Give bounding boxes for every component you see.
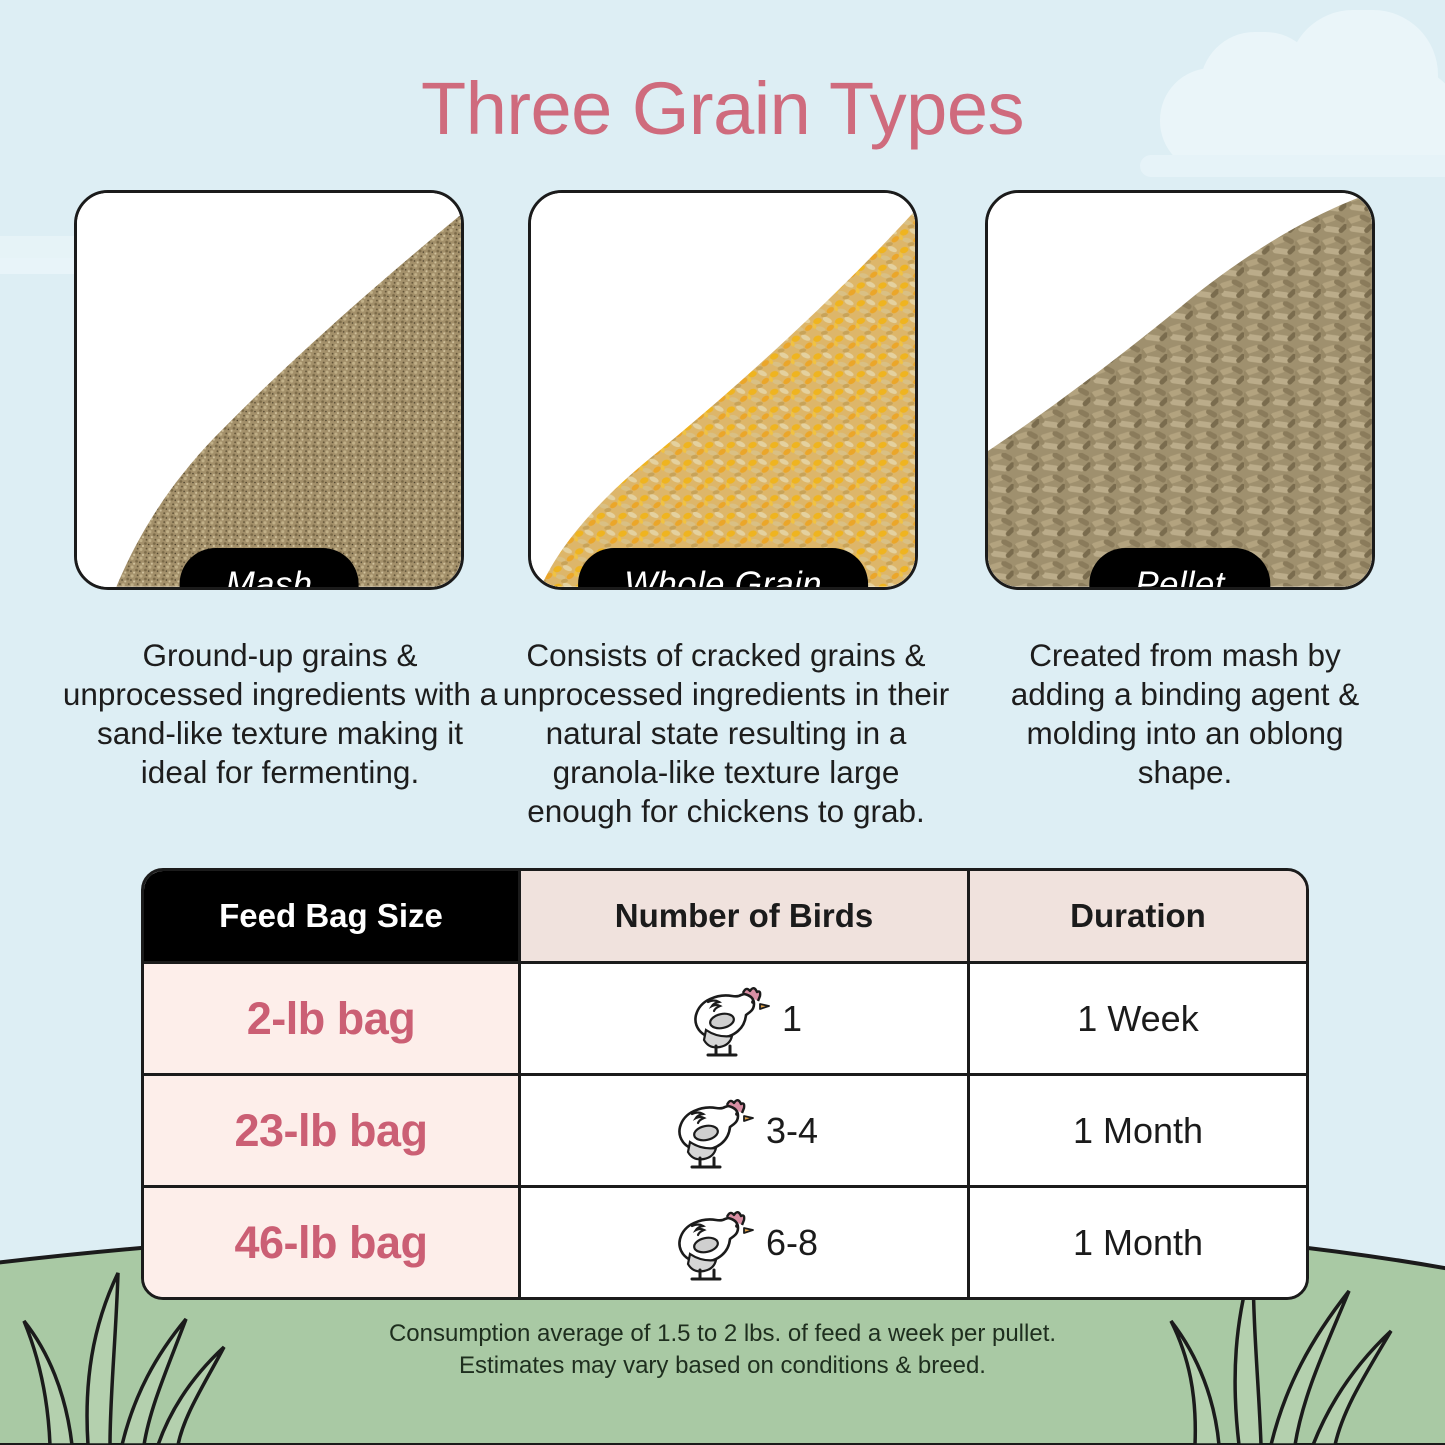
whole-grain-photo [531,193,915,587]
feed-bag-table: Feed Bag Size Number of Birds Duration 2… [141,868,1309,1300]
cell-duration: 1 Month [967,1076,1306,1185]
bird-count-label: 1 [782,998,802,1040]
chicken-icon [670,1204,756,1282]
page-title: Three Grain Types [0,66,1445,151]
description-mash: Ground-up grains & unprocessed ingredien… [60,636,500,792]
chicken-icon [686,980,772,1058]
description-pellet: Created from mash by adding a binding ag… [990,636,1380,792]
chicken-icon [670,1092,756,1170]
table-header-number-of-birds: Number of Birds [518,871,967,961]
cell-number-of-birds: 3-4 [518,1076,967,1185]
table-row: 2-lb bag 1 1 Week [144,961,1306,1073]
card-label-mash: Mash [180,548,359,590]
cell-feed-bag-size: 23-lb bag [144,1076,518,1185]
card-label-whole-grain: Whole Grain [578,548,868,590]
cloud-right-base-icon [1140,155,1445,177]
grain-card-pellet: Pellet [985,190,1375,590]
infographic-root: Three Grain Types [0,0,1445,1445]
card-label-pellet: Pellet [1089,548,1270,590]
cell-duration: 1 Week [967,964,1306,1073]
footnote-line-1: Consumption average of 1.5 to 2 lbs. of … [0,1318,1445,1350]
grain-card-whole-grain: Whole Grain [528,190,918,590]
table-header-feed-bag-size: Feed Bag Size [144,871,518,961]
grain-card-mash: Mash [74,190,464,590]
description-whole-grain: Consists of cracked grains & unprocessed… [496,636,956,831]
table-row: 23-lb bag 3-4 1 Month [144,1073,1306,1185]
bird-count-label: 6-8 [766,1222,818,1264]
cell-number-of-birds: 6-8 [518,1188,967,1297]
cell-feed-bag-size: 2-lb bag [144,964,518,1073]
cell-duration: 1 Month [967,1188,1306,1297]
bird-count-label: 3-4 [766,1110,818,1152]
cell-number-of-birds: 1 [518,964,967,1073]
footnote: Consumption average of 1.5 to 2 lbs. of … [0,1318,1445,1382]
table-row: 46-lb bag 6-8 1 Month [144,1185,1306,1297]
pellet-feed-photo [988,193,1372,587]
table-header-row: Feed Bag Size Number of Birds Duration [144,871,1306,961]
mash-grain-photo [77,193,461,587]
table-header-duration: Duration [967,871,1306,961]
grain-type-cards: Mash [0,190,1445,615]
cell-feed-bag-size: 46-lb bag [144,1188,518,1297]
footnote-line-2: Estimates may vary based on conditions &… [0,1350,1445,1382]
